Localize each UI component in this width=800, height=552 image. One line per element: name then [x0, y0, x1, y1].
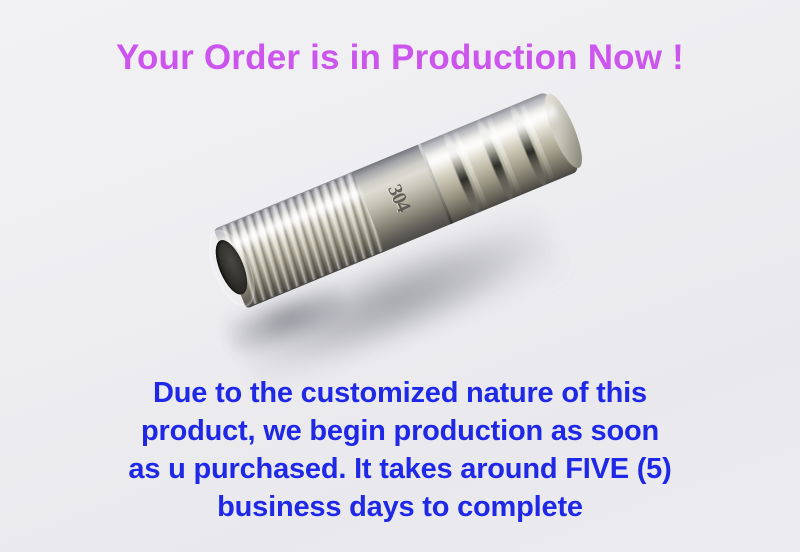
notice-line: business days to complete: [0, 488, 800, 526]
page-title: Your Order is in Production Now !: [0, 38, 800, 78]
notice-line: product, we begin production as soon: [0, 412, 800, 450]
production-notice: Due to the customized nature of this pro…: [0, 374, 800, 526]
notice-line: Due to the customized nature of this: [0, 374, 800, 412]
notice-graphic: Your Order is in Production Now ! 304: [0, 0, 800, 552]
notice-line: as u purchased. It takes around FIVE (5): [0, 450, 800, 488]
product-photo: 304: [200, 138, 620, 373]
